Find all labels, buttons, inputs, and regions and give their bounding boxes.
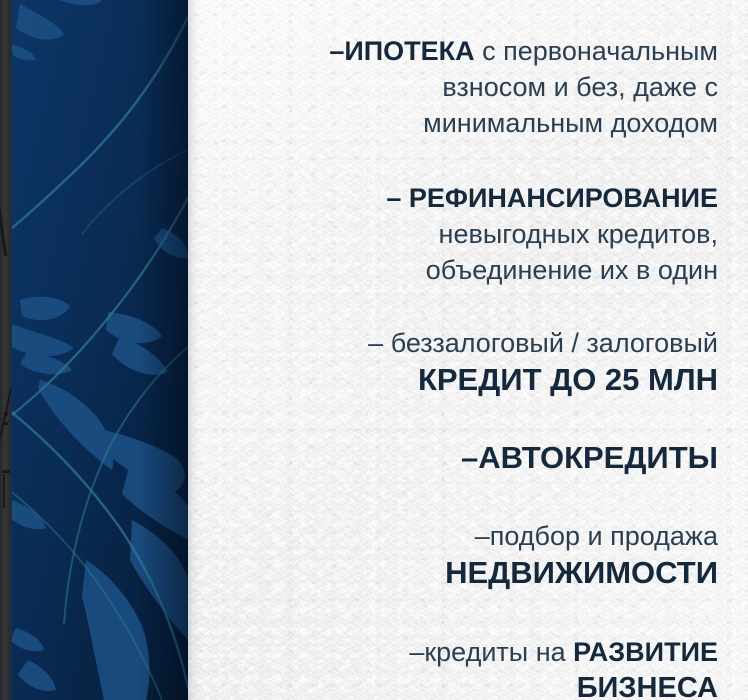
offer-line: –ИПОТЕКА с первоначальным [206,33,718,69]
offer-line: – РЕФИНАНСИРОВАНИЕ [206,180,718,216]
offer-block-business-development: –кредиты на РАЗВИТИЕ БИЗНЕСА [206,592,718,700]
offer-keyword: – РЕФИНАНСИРОВАНИЕ [386,183,718,213]
sliver-mark [4,422,8,425]
offer-line: объединение их в один [206,252,718,288]
offer-block-real-estate: –подбор и продажа НЕДВИЖИМОСТИ [206,477,718,592]
globe-world-map-icon [12,0,188,700]
offer-text: с первоначальным [475,36,718,66]
offer-block-mortgage: –ИПОТЕКА с первоначальным взносом и без,… [206,0,718,141]
offer-line: взносом и без, даже с [206,69,718,105]
offer-keyword: РАЗВИТИЕ [573,637,718,667]
offer-line: НЕДВИЖИМОСТИ [206,554,718,592]
offer-keyword: КРЕДИТ ДО 25 МЛН [418,362,718,397]
offer-keyword: –АВТОКРЕДИТЫ [461,440,718,475]
offer-line: –подбор и продажа [206,519,718,554]
offer-line: КРЕДИТ ДО 25 МЛН [206,361,718,399]
offer-block-autocredit: –АВТОКРЕДИТЫ [206,399,718,477]
offer-text: –кредиты на [409,637,573,667]
sliver-mark [2,470,10,473]
offer-keyword: БИЗНЕСА [577,672,718,700]
offer-block-refinancing: – РЕФИНАНСИРОВАНИЕ невыгодных кредитов, … [206,141,718,288]
offer-line: невыгодных кредитов, [206,216,718,252]
left-edge-sliver [0,0,12,700]
sliver-mark [0,196,7,256]
offer-line: – беззалоговый / залоговый [206,325,718,361]
offer-block-credit-25mln: – беззалоговый / залоговый КРЕДИТ ДО 25 … [206,288,718,399]
offer-line: –кредиты на РАЗВИТИЕ [206,635,718,670]
offer-line: –АВТОКРЕДИТЫ [206,439,718,477]
offer-keyword: НЕДВИЖИМОСТИ [445,555,718,590]
promo-poster: –ИПОТЕКА с первоначальным взносом и без,… [0,0,748,700]
sliver-mark [0,389,12,472]
offer-line: минимальным доходом [206,105,718,141]
globe-panel [12,0,188,700]
offer-line: БИЗНЕСА [206,670,718,700]
sliver-mark [3,474,5,508]
sliver-mark [4,412,8,416]
offer-keyword: –ИПОТЕКА [329,36,474,66]
offers-list: –ИПОТЕКА с первоначальным взносом и без,… [188,0,748,700]
